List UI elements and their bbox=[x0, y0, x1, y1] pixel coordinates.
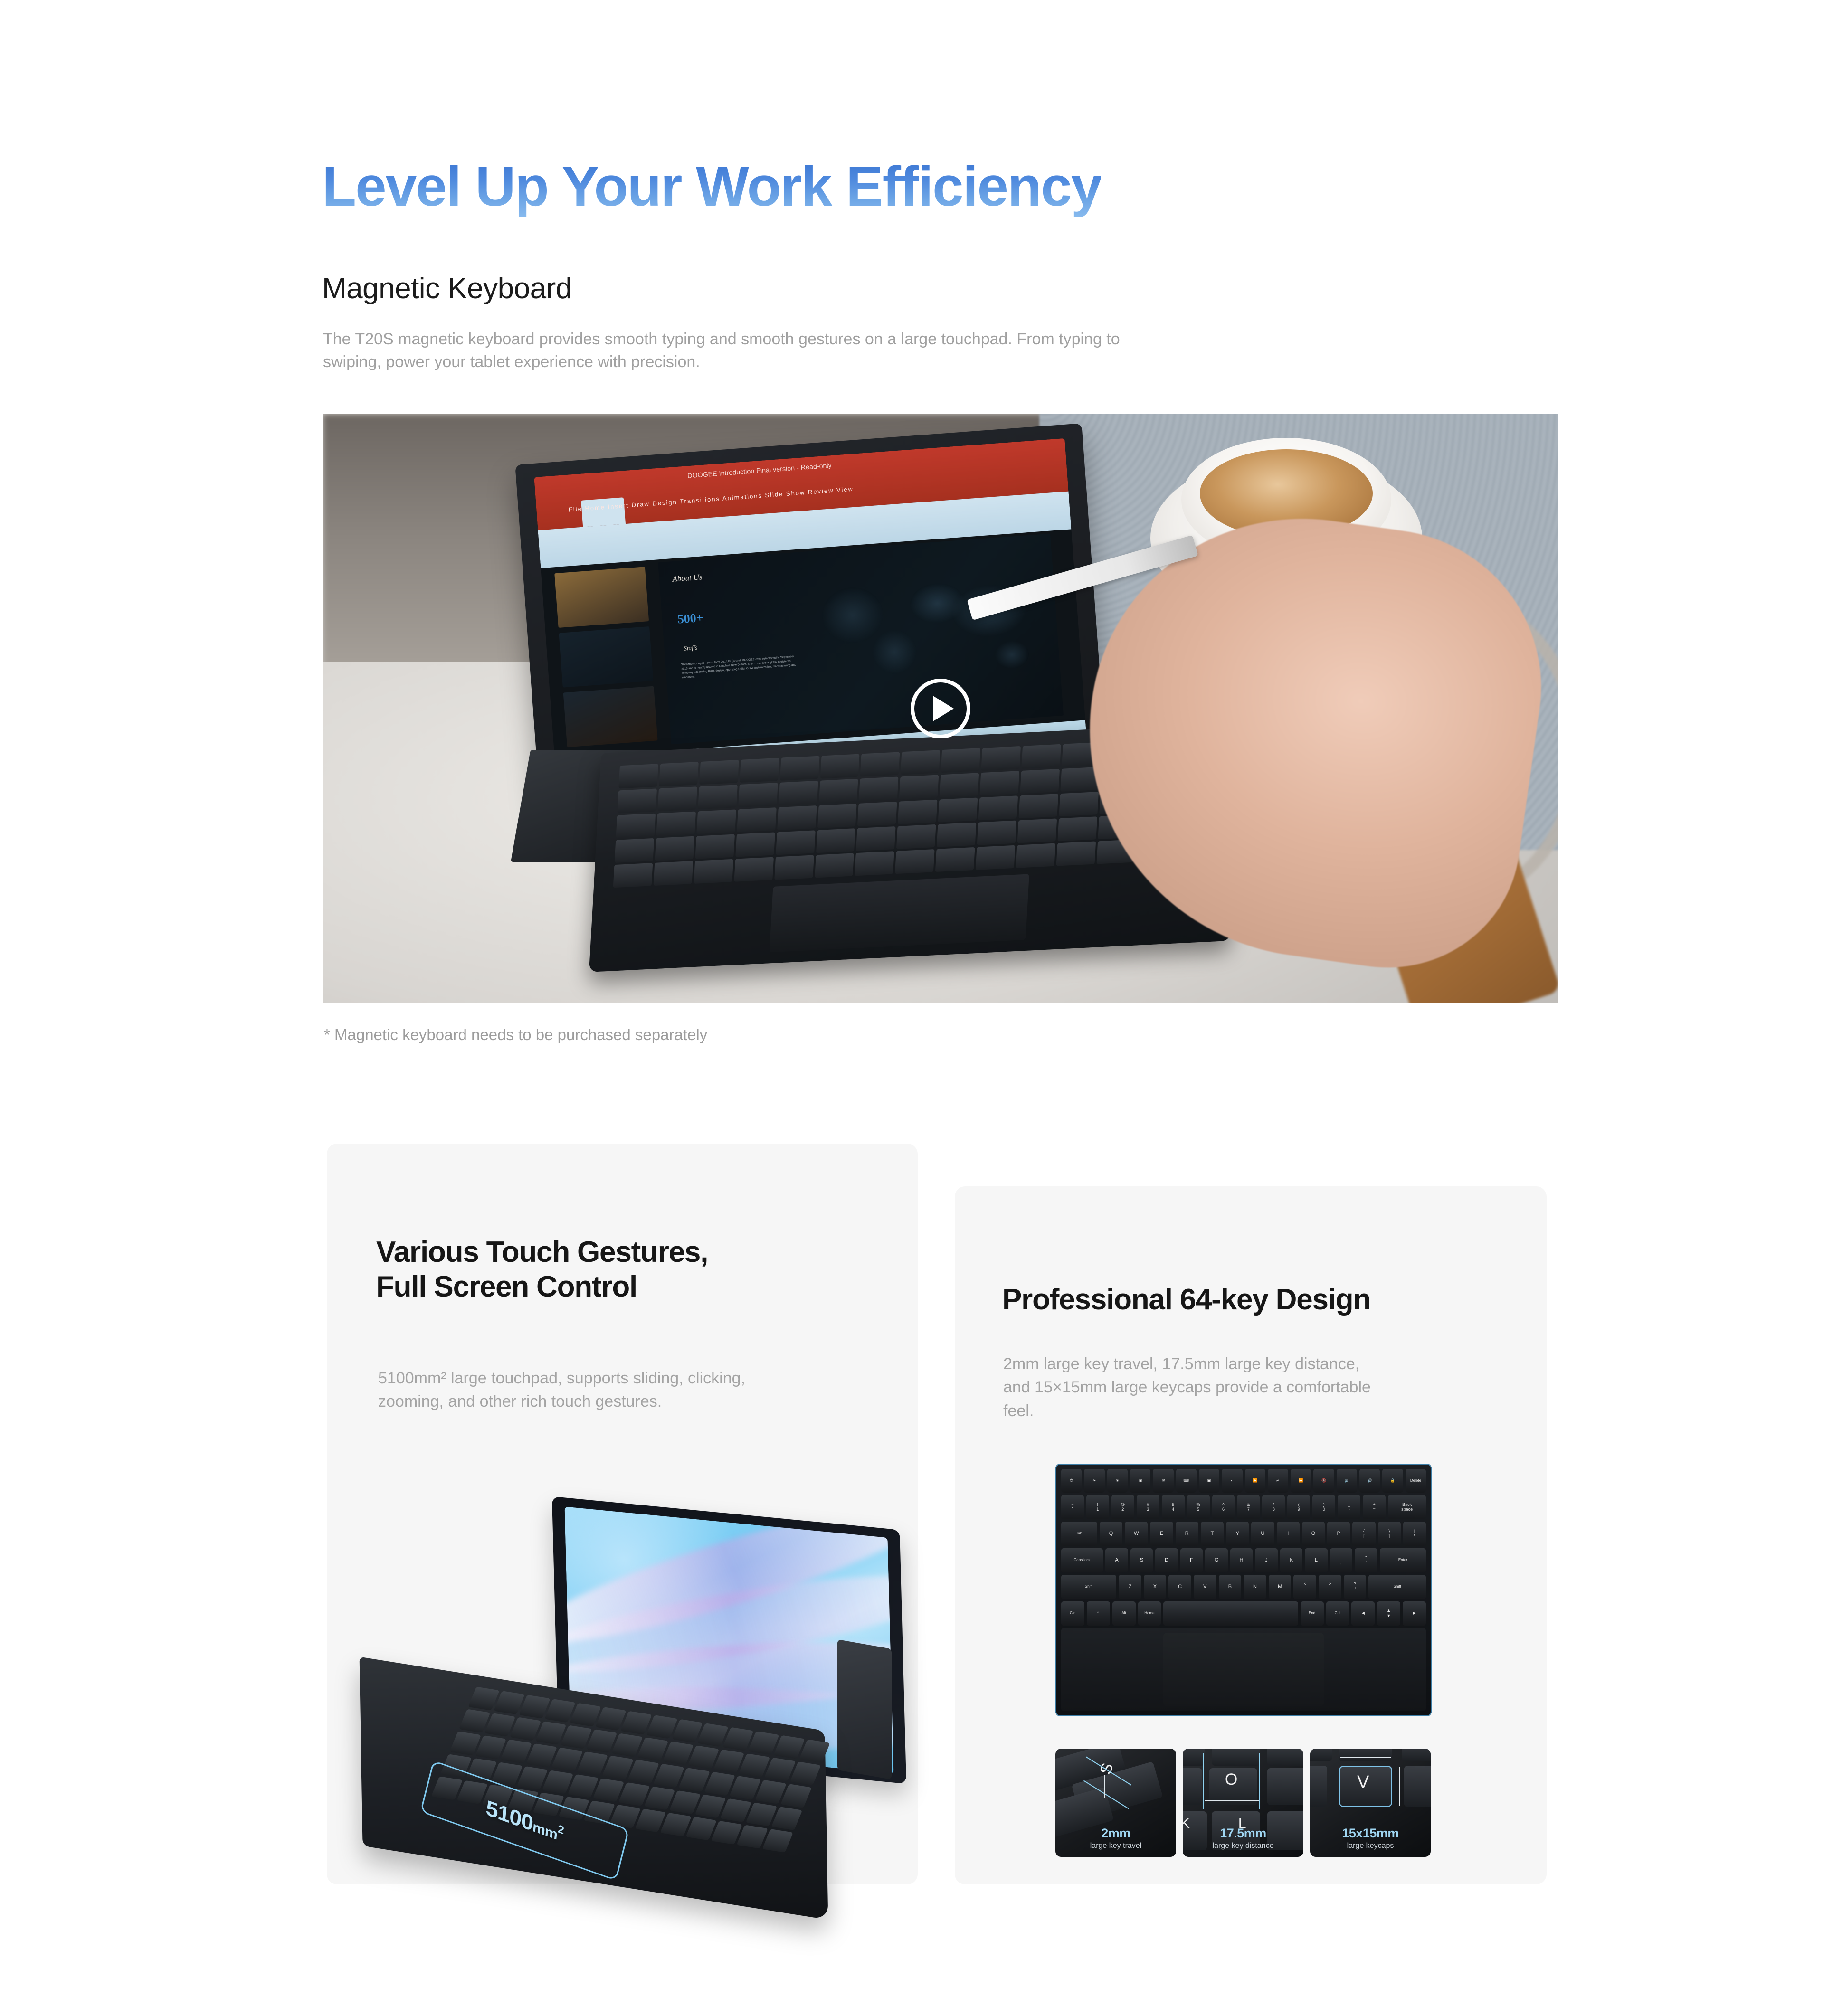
key-mail: ✉ bbox=[1153, 1469, 1173, 1493]
tablet-keyboard-product-image: 5100mm2 bbox=[361, 1505, 902, 1890]
tile-value: 2mm bbox=[1055, 1826, 1176, 1841]
tile-value: 17.5mm bbox=[1183, 1826, 1303, 1841]
slide-thumbnail[interactable] bbox=[559, 626, 653, 687]
key-arrow-right: ▶ bbox=[1403, 1601, 1426, 1626]
key-i: I bbox=[1277, 1522, 1300, 1546]
keyboard-top-row: Tab Q W E R T Y U I O P {[ }] |\ bbox=[1061, 1522, 1426, 1546]
key-h: H bbox=[1230, 1548, 1253, 1572]
key-volume-down: 🔉 bbox=[1337, 1469, 1357, 1493]
key-screenshot: ▣ bbox=[1130, 1469, 1150, 1493]
key-9: (9 bbox=[1287, 1495, 1310, 1519]
touchpad-area-value: 5100 bbox=[485, 1795, 534, 1836]
key-k: K bbox=[1280, 1548, 1302, 1572]
key-c: C bbox=[1168, 1575, 1191, 1599]
key-power: ⏻ bbox=[1061, 1469, 1082, 1493]
key-x: X bbox=[1144, 1575, 1167, 1599]
key-left-ctrl: Ctrl bbox=[1061, 1601, 1084, 1626]
key-arrow-left: ◀ bbox=[1351, 1601, 1375, 1626]
key-space bbox=[1163, 1601, 1298, 1626]
key-home: Home bbox=[1138, 1601, 1161, 1626]
keyboard-topdown-image: ⏻ ☀ ☀ ▣ ✉ ⌨ ▣ ◐ ⏪ ⏯ ⏩ 🔇 🔉 🔊 🔒 Delete ~` … bbox=[1055, 1464, 1432, 1716]
key-g: G bbox=[1205, 1548, 1227, 1572]
card-description-64-key-design: 2mm large key travel, 17.5mm large key d… bbox=[1003, 1353, 1383, 1423]
key-d: D bbox=[1155, 1548, 1178, 1572]
key-comma: <, bbox=[1293, 1575, 1316, 1599]
key-contrast: ◐ bbox=[1222, 1469, 1242, 1493]
card-title-64-key-design: Professional 64-key Design bbox=[1002, 1282, 1370, 1317]
key-lock: 🔒 bbox=[1382, 1469, 1403, 1493]
section-subtitle: Magnetic Keyboard bbox=[322, 272, 572, 305]
tile-label: large key distance bbox=[1183, 1842, 1303, 1850]
key-right-shift: Shift bbox=[1368, 1575, 1426, 1599]
key-5: %5 bbox=[1187, 1495, 1210, 1519]
key-t: T bbox=[1201, 1522, 1224, 1546]
key-backslash: |\ bbox=[1403, 1522, 1426, 1546]
key-end: End bbox=[1301, 1601, 1324, 1626]
tile-value: 15x15mm bbox=[1310, 1826, 1431, 1841]
key-m: M bbox=[1269, 1575, 1292, 1599]
card-title-touch-gestures: Various Touch Gestures, Full Screen Cont… bbox=[376, 1235, 708, 1304]
key-right-ctrl: Ctrl bbox=[1326, 1601, 1349, 1626]
slide-stat-value: 500+ bbox=[677, 610, 704, 626]
slide-thumbnail[interactable] bbox=[563, 686, 657, 747]
card-title-line-1: Various Touch Gestures, bbox=[376, 1235, 708, 1269]
key-e: E bbox=[1150, 1522, 1173, 1546]
keyboard-number-row: ~` !1 @2 #3 $4 %5 ^6 &7 *8 (9 )0 _- += B… bbox=[1061, 1495, 1426, 1519]
ribbon-active-tab bbox=[581, 497, 626, 527]
key-1: !1 bbox=[1086, 1495, 1109, 1519]
key-volume-up: 🔊 bbox=[1359, 1469, 1380, 1493]
keyboard-function-row: ⏻ ☀ ☀ ▣ ✉ ⌨ ▣ ◐ ⏪ ⏯ ⏩ 🔇 🔉 🔊 🔒 Delete bbox=[1061, 1469, 1426, 1493]
disclaimer-note: * Magnetic keyboard needs to be purchase… bbox=[324, 1026, 707, 1044]
detail-tile-key-travel: S 2mm large key travel bbox=[1055, 1749, 1176, 1857]
touchpad-area-superscript: 2 bbox=[557, 1822, 564, 1836]
key-right-bracket: }] bbox=[1378, 1522, 1401, 1546]
card-title-line-2: Full Screen Control bbox=[376, 1269, 708, 1304]
keyboard-palmrest bbox=[1061, 1628, 1426, 1712]
key-brightness-down: ☀ bbox=[1084, 1469, 1104, 1493]
key-backspace: Backspace bbox=[1388, 1495, 1426, 1519]
key-6: ^6 bbox=[1212, 1495, 1235, 1519]
keyboard-rows: ⏻ ☀ ☀ ▣ ✉ ⌨ ▣ ◐ ⏪ ⏯ ⏩ 🔇 🔉 🔊 🔒 Delete ~` … bbox=[1061, 1469, 1426, 1626]
detail-tile-keycap-size: V 15x15mm large keycaps bbox=[1310, 1749, 1431, 1857]
key-minus: _- bbox=[1338, 1495, 1360, 1519]
key-w: W bbox=[1125, 1522, 1148, 1546]
tile-caption: 15x15mm large keycaps bbox=[1310, 1826, 1431, 1850]
key-3: #3 bbox=[1137, 1495, 1159, 1519]
play-icon bbox=[933, 696, 954, 721]
slide-heading: About Us bbox=[672, 573, 703, 585]
key-f: F bbox=[1180, 1548, 1203, 1572]
key-alt: Alt bbox=[1112, 1601, 1136, 1626]
key-back: ↰ bbox=[1087, 1601, 1110, 1626]
key-r: R bbox=[1176, 1522, 1198, 1546]
tile-caption: 17.5mm large key distance bbox=[1183, 1826, 1303, 1850]
key-a: A bbox=[1105, 1548, 1128, 1572]
key-enter: Enter bbox=[1380, 1548, 1426, 1572]
key-0: )0 bbox=[1312, 1495, 1335, 1519]
page-title: Level Up Your Work Efficiency bbox=[322, 158, 1101, 217]
key-semicolon: :; bbox=[1330, 1548, 1352, 1572]
key-p: P bbox=[1327, 1522, 1350, 1546]
detail-tile-key-distance: O K L 17.5mm large key distance bbox=[1183, 1749, 1303, 1857]
key-previous-track: ⏪ bbox=[1245, 1469, 1265, 1493]
key-v: V bbox=[1194, 1575, 1216, 1599]
keyboard-shift-row: Shift Z X C V B N M <, >. ?/ Shift bbox=[1061, 1575, 1426, 1599]
keyboard-home-row: Caps lock A S D F G H J K L :; "' Enter bbox=[1061, 1548, 1426, 1572]
tile-caption: 2mm large key travel bbox=[1055, 1826, 1176, 1850]
play-button[interactable] bbox=[911, 679, 970, 738]
key-z: Z bbox=[1119, 1575, 1141, 1599]
keyboard-trackpad bbox=[769, 874, 1029, 953]
hero-video-thumbnail[interactable]: DOOGEE Introduction Final version - Read… bbox=[323, 414, 1558, 1003]
key-caps-lock: Caps lock bbox=[1061, 1548, 1103, 1572]
touchpad-area-label: 5100mm2 bbox=[485, 1795, 565, 1846]
key-slash: ?/ bbox=[1344, 1575, 1367, 1599]
card-description-touch-gestures: 5100mm² large touchpad, supports sliding… bbox=[378, 1367, 758, 1414]
key-quote: "' bbox=[1355, 1548, 1377, 1572]
tile-label: large keycaps bbox=[1310, 1842, 1431, 1850]
product-page: Level Up Your Work Efficiency Magnetic K… bbox=[0, 0, 1824, 2016]
key-period: >. bbox=[1319, 1575, 1341, 1599]
slide-canvas: About Us 500+ Staffs Shenzhen Doogee Tec… bbox=[658, 534, 1064, 744]
slide-thumbnail[interactable] bbox=[554, 567, 648, 627]
key-u: U bbox=[1251, 1522, 1274, 1546]
key-tilde: ~` bbox=[1061, 1495, 1084, 1519]
key-y: Y bbox=[1226, 1522, 1249, 1546]
key-o: O bbox=[1302, 1522, 1325, 1546]
key-7: &7 bbox=[1237, 1495, 1260, 1519]
key-2: @2 bbox=[1111, 1495, 1134, 1519]
key-b: B bbox=[1219, 1575, 1242, 1599]
keycap-letter: O bbox=[1225, 1770, 1237, 1789]
key-display: ▣ bbox=[1199, 1469, 1219, 1493]
key-s: S bbox=[1130, 1548, 1153, 1572]
slide-stat-label: Staffs bbox=[684, 644, 698, 652]
key-tab: Tab bbox=[1061, 1522, 1097, 1546]
key-q: Q bbox=[1100, 1522, 1122, 1546]
key-arrow-up-down: ▲▼ bbox=[1377, 1601, 1400, 1626]
slide-thumbnail-panel bbox=[554, 567, 659, 767]
tablet-case-kickstand bbox=[837, 1639, 892, 1779]
key-keyboard: ⌨ bbox=[1176, 1469, 1197, 1493]
key-left-shift: Shift bbox=[1061, 1575, 1116, 1599]
key-brightness-up: ☀ bbox=[1107, 1469, 1128, 1493]
key-4: $4 bbox=[1162, 1495, 1185, 1519]
touchpad-area-unit: mm bbox=[532, 1819, 558, 1843]
key-equals: += bbox=[1363, 1495, 1386, 1519]
key-mute: 🔇 bbox=[1313, 1469, 1334, 1493]
key-play-pause: ⏯ bbox=[1268, 1469, 1288, 1493]
key-j: J bbox=[1255, 1548, 1277, 1572]
key-next-track: ⏩ bbox=[1291, 1469, 1311, 1493]
keycap-letter: V bbox=[1357, 1772, 1369, 1793]
key-delete: Delete bbox=[1406, 1469, 1426, 1493]
key-8: *8 bbox=[1262, 1495, 1285, 1519]
key-l: L bbox=[1305, 1548, 1327, 1572]
key-left-bracket: {[ bbox=[1352, 1522, 1375, 1546]
section-description: The T20S magnetic keyboard provides smoo… bbox=[323, 328, 1130, 374]
keyboard-trackpad-area bbox=[1163, 1633, 1324, 1706]
tile-label: large key travel bbox=[1055, 1842, 1176, 1850]
slide-body-text: Shenzhen Doogee Technology Co., Ltd. (Br… bbox=[681, 654, 799, 680]
key-n: N bbox=[1244, 1575, 1266, 1599]
keyboard-bottom-row: Ctrl ↰ Alt Home End Ctrl ◀ ▲▼ ▶ bbox=[1061, 1601, 1426, 1626]
